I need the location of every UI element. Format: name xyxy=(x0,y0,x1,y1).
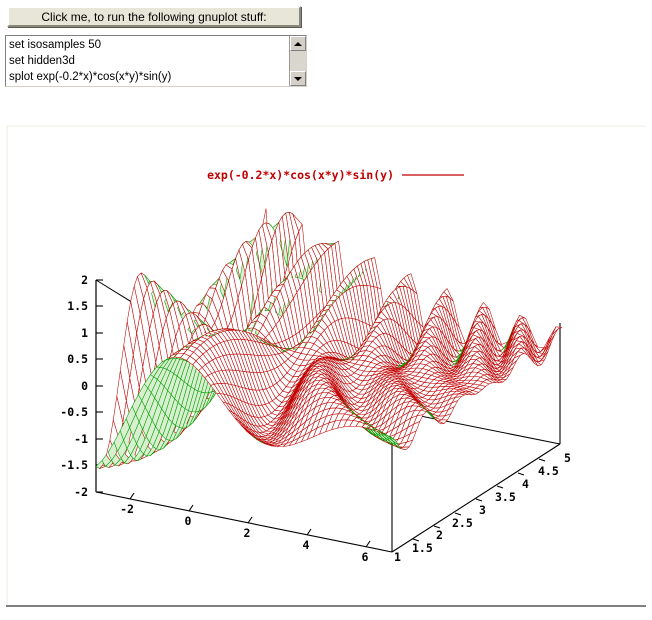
x-tick-label: 2 xyxy=(244,526,251,540)
script-scrollbar[interactable] xyxy=(289,36,306,86)
scroll-down-icon[interactable] xyxy=(290,71,306,86)
z-tick-label: -1 xyxy=(74,432,88,446)
x-tick-label: 6 xyxy=(362,550,369,564)
y-tick-label: 3.5 xyxy=(495,490,516,504)
gnuplot-output-panel: exp(-0.2*x)*cos(x*y)*sin(y) xyxy=(6,125,646,606)
legend-label: exp(-0.2*x)*cos(x*y)*sin(y) xyxy=(207,168,394,182)
y-tick-label: 1.5 xyxy=(412,541,433,555)
surface-plot: exp(-0.2*x)*cos(x*y)*sin(y) xyxy=(8,127,646,606)
x-tick-label: -2 xyxy=(120,502,134,516)
y-tick-label: 2.5 xyxy=(452,516,473,530)
y-tick-label: 5 xyxy=(564,451,571,465)
z-tick-label: 2 xyxy=(81,273,88,287)
gnuplot-form: Click me, to run the following gnuplot s… xyxy=(0,0,652,118)
z-tick-label: 1.5 xyxy=(67,299,88,313)
gnuplot-script-box xyxy=(5,35,307,87)
z-tick-label: -0.5 xyxy=(60,405,88,419)
x-tick-label: 4 xyxy=(303,538,310,552)
y-tick-label: 2 xyxy=(436,528,443,542)
triangle-down-icon xyxy=(294,77,302,81)
scrollbar-track[interactable] xyxy=(290,51,306,71)
run-gnuplot-button[interactable]: Click me, to run the following gnuplot s… xyxy=(7,6,301,27)
triangle-up-icon xyxy=(294,42,302,46)
z-tick-label: -2 xyxy=(74,485,88,499)
y-tick-label: 4 xyxy=(522,477,529,491)
z-tick-label: 1 xyxy=(81,326,88,340)
horizontal-rule xyxy=(6,605,646,607)
x-tick-label: 0 xyxy=(185,514,192,528)
z-tick-label: 0.5 xyxy=(67,352,88,366)
y-tick-label: 3 xyxy=(479,503,486,517)
gnuplot-script-input[interactable] xyxy=(6,36,286,86)
scroll-up-icon[interactable] xyxy=(290,36,306,51)
z-tick-label: -1.5 xyxy=(60,458,88,472)
z-tick-label: 0 xyxy=(81,379,88,393)
y-tick-label: 4.5 xyxy=(538,464,559,478)
y-tick-label: 1 xyxy=(394,550,401,564)
